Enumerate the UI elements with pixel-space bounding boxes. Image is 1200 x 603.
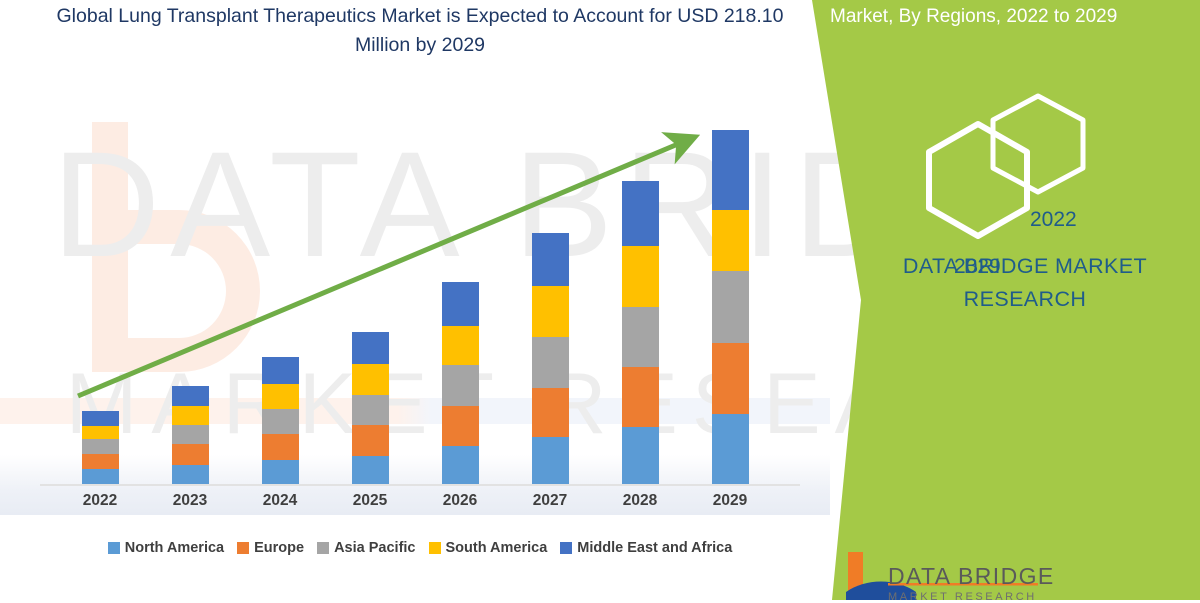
bar-segment (172, 425, 209, 444)
legend-item[interactable]: North America (108, 540, 224, 556)
bar-segment (442, 282, 479, 326)
x-axis-label-2022: 2022 (65, 492, 135, 510)
bar-segment (712, 343, 749, 414)
bar-segment (82, 411, 119, 426)
legend-label: North America (125, 540, 224, 556)
x-axis-label-2027: 2027 (515, 492, 585, 510)
bar-2026 (442, 282, 479, 485)
bar-segment (352, 425, 389, 455)
bar-segment (442, 446, 479, 485)
bar-segment (172, 465, 209, 485)
legend-label: Europe (254, 540, 304, 556)
hexagon-label-2022: 2022 (1030, 208, 1077, 232)
bar-segment (442, 406, 479, 447)
x-axis-label-2024: 2024 (245, 492, 315, 510)
panel-title: Market, By Regions, 2022 to 2029 (830, 4, 1200, 30)
bar-segment (352, 364, 389, 394)
bar-2028 (622, 181, 659, 485)
bar-segment (262, 434, 299, 459)
x-axis-label-2026: 2026 (425, 492, 495, 510)
bar-segment (82, 454, 119, 469)
x-axis-label-2023: 2023 (155, 492, 225, 510)
bar-2023 (172, 386, 209, 485)
x-axis-label-2028: 2028 (605, 492, 675, 510)
bar-segment (172, 406, 209, 425)
x-axis-line (40, 484, 800, 486)
bar-2024 (262, 357, 299, 485)
bar-segment (712, 130, 749, 210)
bar-segment (442, 365, 479, 406)
legend-item[interactable]: Europe (237, 540, 304, 556)
legend-label: Middle East and Africa (577, 540, 732, 556)
legend-item[interactable]: Middle East and Africa (560, 540, 732, 556)
brand-line-2: RESEARCH (860, 283, 1190, 316)
bar-segment (262, 409, 299, 434)
bar-2029 (712, 130, 749, 485)
bar-segment (82, 469, 119, 485)
bar-segment (532, 233, 569, 287)
legend-swatch (237, 542, 249, 554)
bar-segment (622, 181, 659, 246)
bar-segment (532, 337, 569, 388)
legend-label: South America (446, 540, 548, 556)
bar-segment (352, 456, 389, 485)
hexagon-2022-shape (993, 96, 1083, 192)
bar-segment (532, 388, 569, 438)
bar-segment (622, 246, 659, 307)
bar-segment (82, 439, 119, 453)
bar-segment (712, 271, 749, 343)
logo-name: DATA BRIDGE (888, 563, 1055, 590)
bar-segment (352, 395, 389, 425)
bar-segment (622, 307, 659, 368)
bar-segment (262, 384, 299, 409)
bar-segment (262, 357, 299, 383)
legend-item[interactable]: South America (429, 540, 548, 556)
brand-name: DATA BRIDGE MARKET RESEARCH (860, 250, 1190, 316)
x-axis-label-2025: 2025 (335, 492, 405, 510)
bar-segment (622, 367, 659, 427)
bar-segment (712, 210, 749, 271)
brand-line-1: DATA BRIDGE MARKET (860, 250, 1190, 283)
logo-tagline: MARKET RESEARCH (888, 591, 1037, 603)
bar-segment (532, 437, 569, 485)
chart-legend: North AmericaEuropeAsia PacificSouth Ame… (40, 540, 800, 556)
x-axis-labels: 20222023202420252026202720282029 (55, 492, 775, 518)
bar-segment (622, 427, 659, 485)
stacked-bar-chart: 20222023202420252026202720282029 (0, 0, 800, 600)
bar-segment (532, 286, 569, 337)
bar-segment (172, 386, 209, 406)
legend-label: Asia Pacific (334, 540, 415, 556)
legend-swatch (317, 542, 329, 554)
legend-item[interactable]: Asia Pacific (317, 540, 415, 556)
bar-segment (352, 332, 389, 364)
bar-2027 (532, 233, 569, 485)
bar-2025 (352, 332, 389, 485)
bar-segment (262, 460, 299, 485)
legend-swatch (108, 542, 120, 554)
chart-plot-area (55, 120, 775, 485)
legend-swatch (429, 542, 441, 554)
bar-segment (82, 426, 119, 439)
x-axis-label-2029: 2029 (695, 492, 765, 510)
legend-swatch (560, 542, 572, 554)
bar-2022 (82, 411, 119, 485)
hexagon-badges: 2029 2022 (920, 90, 1130, 240)
bar-segment (712, 414, 749, 485)
bar-segment (442, 326, 479, 366)
bar-segment (172, 444, 209, 464)
